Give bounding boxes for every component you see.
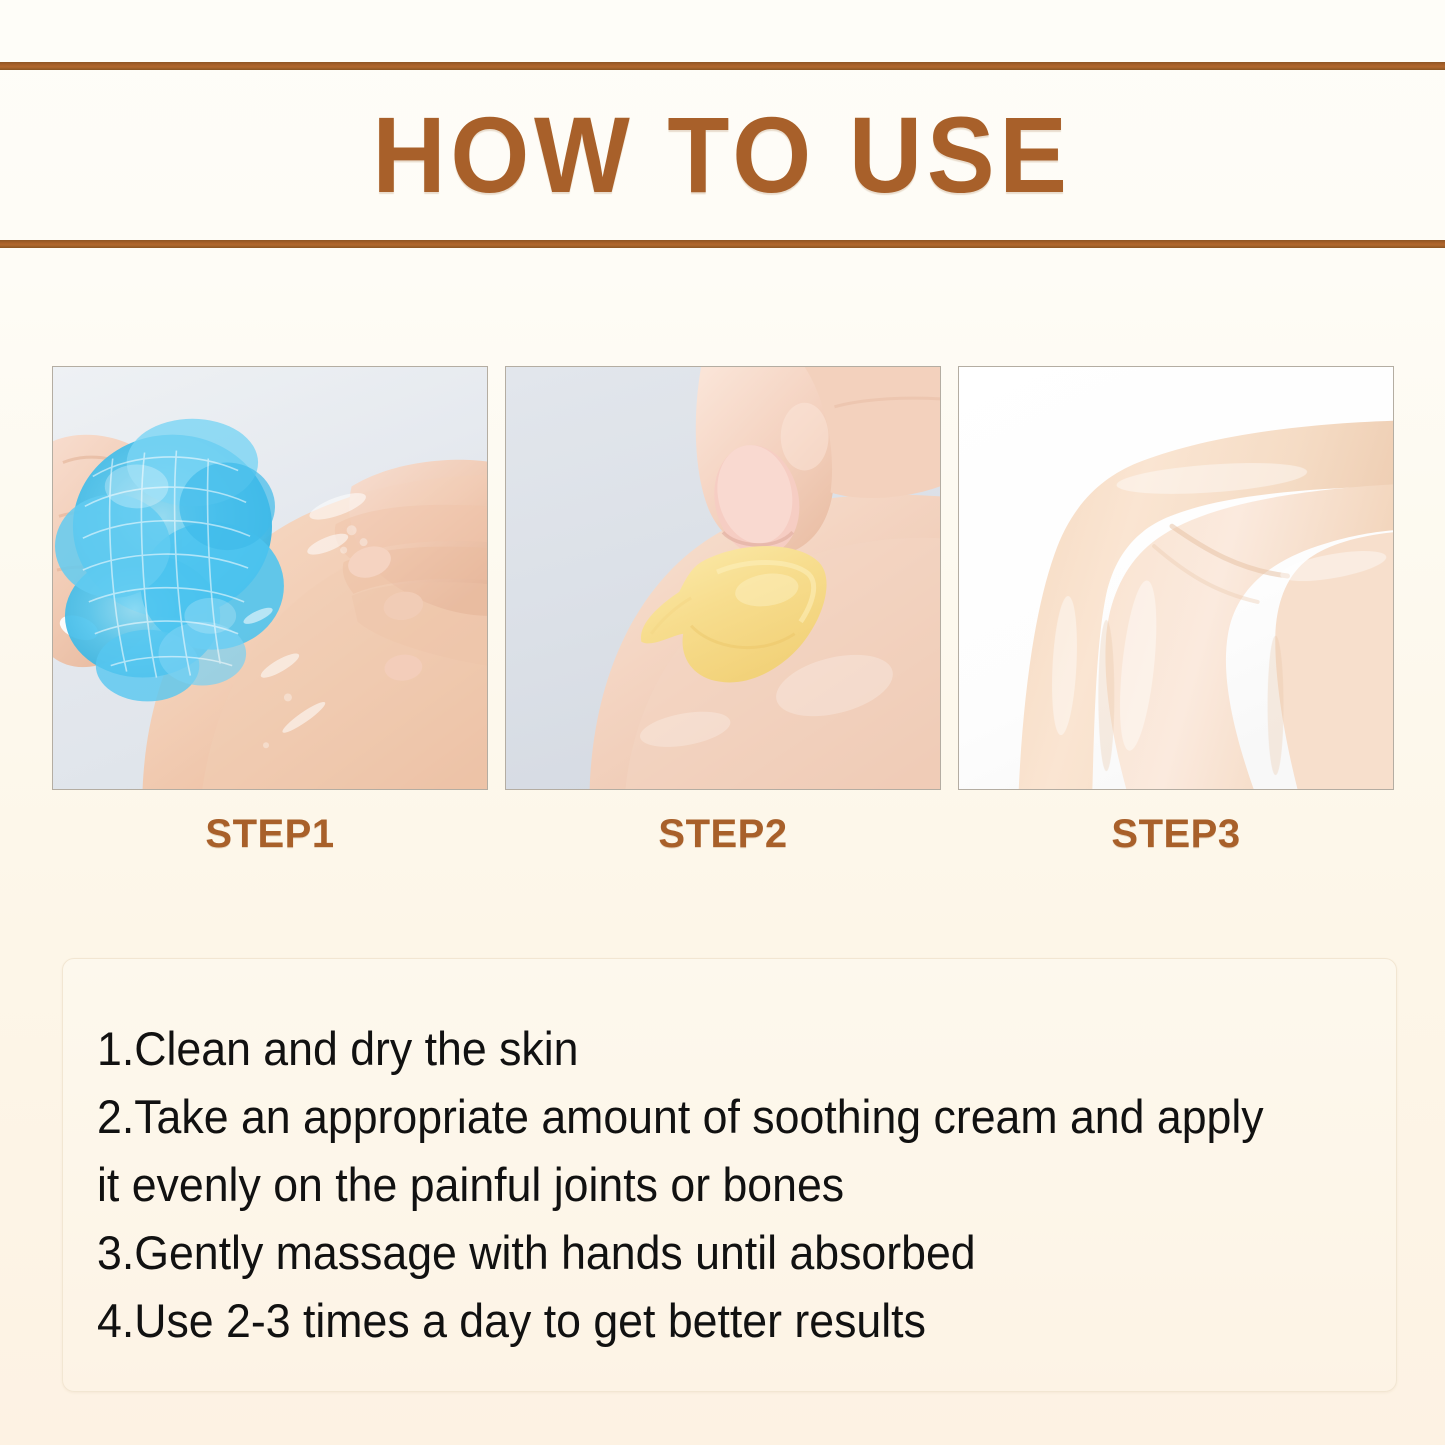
page-title: HOW TO USE (373, 101, 1072, 209)
step-1-caption: STEP1 (52, 812, 488, 857)
instruction-line: 2.Take an appropriate amount of soothing… (97, 1083, 1331, 1151)
applying-cream-image (506, 367, 940, 789)
instruction-line: 4.Use 2-3 times a day to get better resu… (97, 1287, 1331, 1355)
step-card-3: STEP3 (958, 366, 1394, 857)
header-bottom-rule (0, 240, 1445, 248)
smooth-legs-image (959, 367, 1393, 789)
instruction-line: 1.Clean and dry the skin (97, 1015, 1331, 1083)
instructions-panel: 1.Clean and dry the skin 2.Take an appro… (62, 958, 1397, 1392)
step-card-2: STEP2 (505, 366, 941, 857)
step-1-photo (52, 366, 488, 790)
instructions-list: 1.Clean and dry the skin 2.Take an appro… (97, 1015, 1396, 1355)
washing-with-loofah-image (53, 367, 487, 789)
how-to-use-infographic: HOW TO USE (0, 0, 1445, 1445)
step-3-caption: STEP3 (958, 812, 1394, 857)
step-2-photo (505, 366, 941, 790)
page-title-container: HOW TO USE (0, 70, 1445, 240)
step-2-caption: STEP2 (505, 812, 941, 857)
instruction-line: 3.Gently massage with hands until absorb… (97, 1219, 1331, 1287)
instruction-line: it evenly on the painful joints or bones (97, 1151, 1331, 1219)
steps-row: STEP1 (52, 366, 1393, 857)
step-3-photo (958, 366, 1394, 790)
step-card-1: STEP1 (52, 366, 488, 857)
header-top-rule (0, 62, 1445, 70)
